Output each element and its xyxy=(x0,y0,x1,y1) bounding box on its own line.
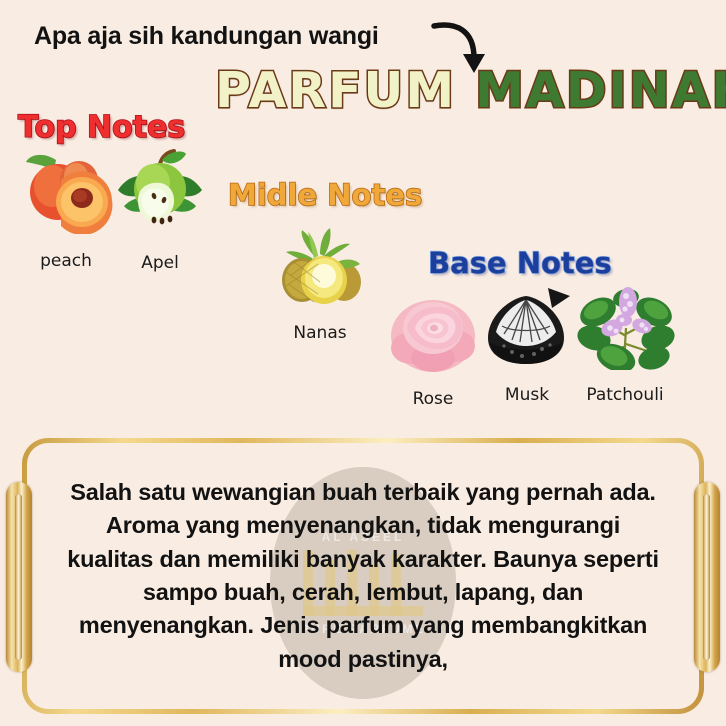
heading-top-notes: Top Notes xyxy=(18,110,185,145)
heading-base-notes: Base Notes xyxy=(428,246,612,280)
ingredient-apel: Apel xyxy=(108,142,212,273)
musk-pod-icon xyxy=(478,282,576,375)
green-apple-icon xyxy=(108,142,212,237)
ingredient-musk: Musk xyxy=(478,282,576,405)
gold-ornament-left xyxy=(6,482,32,672)
ingredient-label-rose: Rose xyxy=(385,389,481,409)
patchouli-plant-icon xyxy=(572,276,678,375)
page-headline: Apa aja sih kandungan wangi xyxy=(34,22,379,51)
ingredient-label-nanas: Nanas xyxy=(272,323,368,343)
ingredient-label-peach: peach xyxy=(16,251,116,271)
description-panel: AL ASEEL PURE PARFUME Salah satu wewangi… xyxy=(0,428,726,726)
ingredient-peach: peach xyxy=(16,148,116,271)
pineapple-icon xyxy=(272,228,368,313)
ingredient-rose: Rose xyxy=(385,288,481,409)
ingredient-label-musk: Musk xyxy=(478,385,576,405)
ingredient-label-patchouli: Patchouli xyxy=(572,385,678,405)
brand-word-parfum: PARFUM xyxy=(215,62,456,119)
heading-midle-notes: Midle Notes xyxy=(228,178,422,212)
ingredient-label-apel: Apel xyxy=(108,253,212,273)
gold-ornament-right xyxy=(694,482,720,672)
pink-rose-icon xyxy=(385,288,481,379)
ingredient-nanas: Nanas xyxy=(272,228,368,343)
description-text: Salah satu wewangian buah terbaik yang p… xyxy=(60,476,666,676)
poster-canvas: Apa aja sih kandungan wangi PARFUM MADIN… xyxy=(0,0,726,726)
brand-word-madinah: MADINAH xyxy=(475,62,726,119)
peach-fruit-icon xyxy=(16,148,116,239)
ingredient-patchouli: Patchouli xyxy=(572,276,678,405)
brand-title: PARFUM MADINAH xyxy=(215,66,726,115)
